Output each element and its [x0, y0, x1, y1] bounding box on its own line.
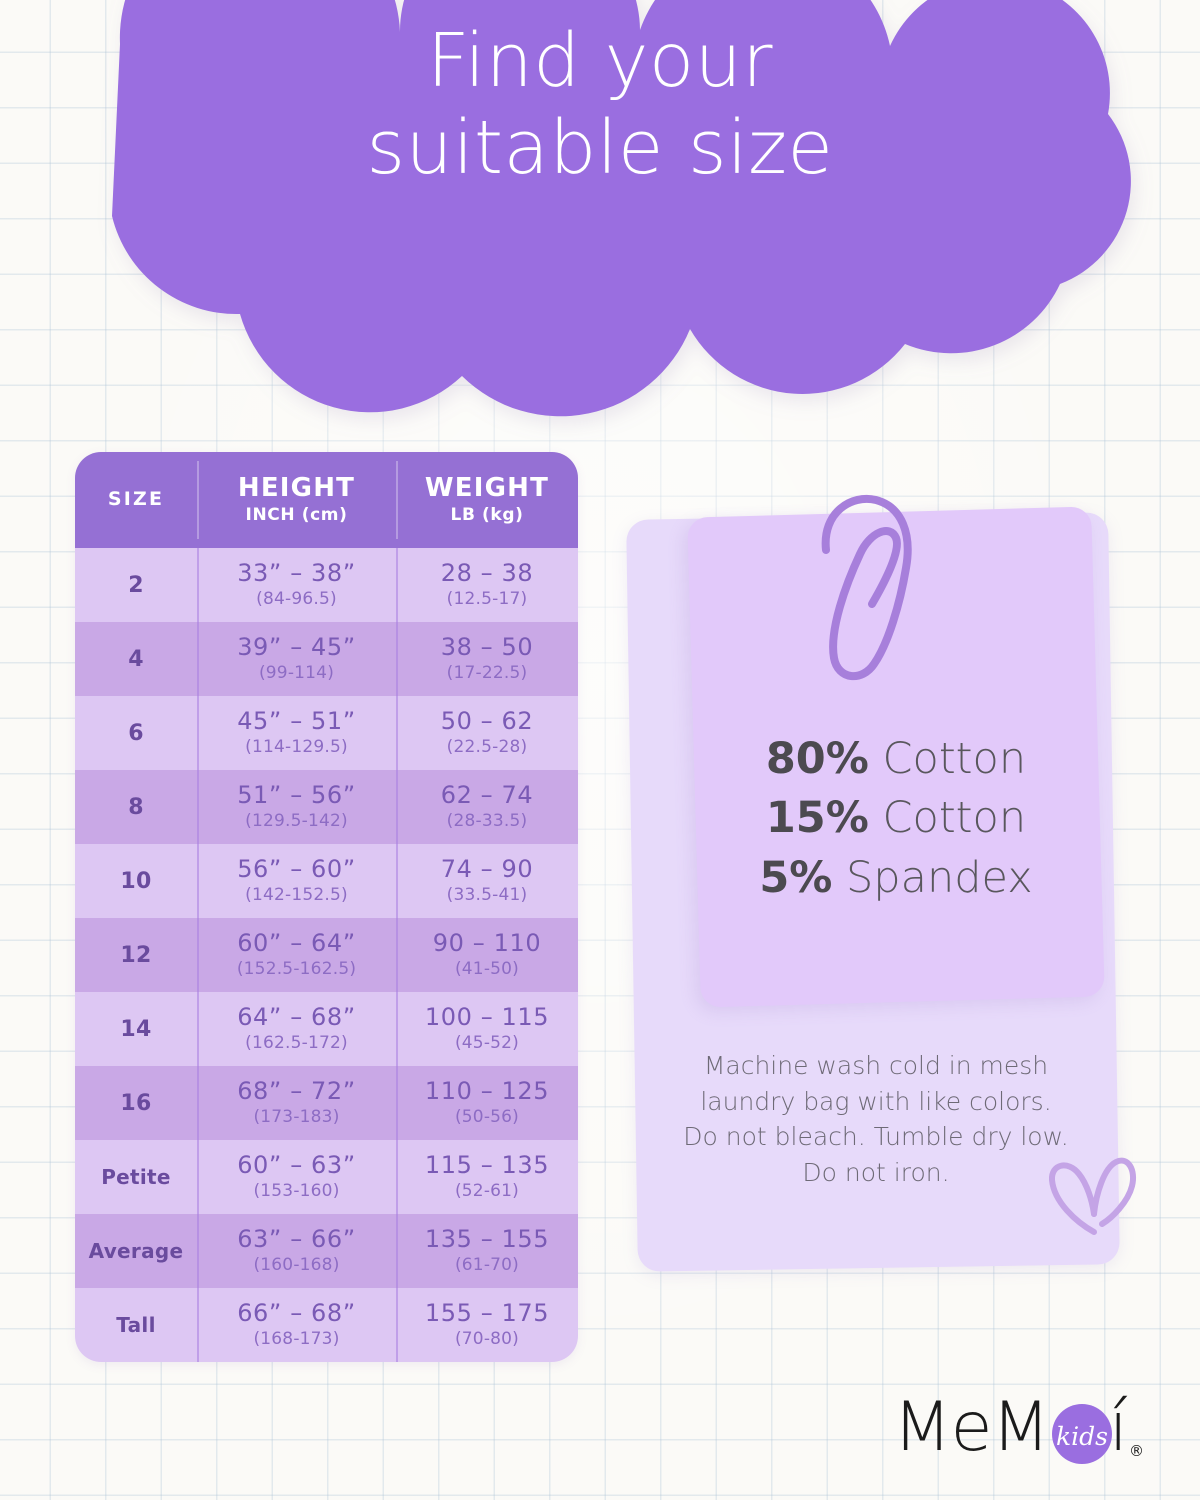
cell-height: 33” – 38” (84-96.5) [197, 548, 396, 622]
weight-lb: 38 – 50 [441, 635, 534, 660]
cell-size: 14 [75, 992, 197, 1066]
weight-kg: (28-33.5) [447, 811, 528, 831]
weight-kg: (41-50) [455, 959, 519, 979]
care-line: Machine wash cold in mesh [660, 1048, 1092, 1084]
height-inches: 68” – 72” [237, 1079, 356, 1104]
composition-line: 15% Cotton [700, 789, 1092, 848]
table-row: 14 64” – 68” (162.5-172) 100 – 115 (45-5… [75, 992, 578, 1066]
height-cm: (84-96.5) [256, 589, 337, 609]
cell-weight: 74 – 90 (33.5-41) [396, 844, 578, 918]
cell-weight: 100 – 115 (45-52) [396, 992, 578, 1066]
weight-kg: (33.5-41) [447, 885, 528, 905]
trademark-symbol: ® [1129, 1442, 1144, 1460]
cell-size: 4 [75, 622, 197, 696]
table-row: 4 39” – 45” (99-114) 38 – 50 (17-22.5) [75, 622, 578, 696]
cell-size: Average [75, 1214, 197, 1288]
composition-line: 5% Spandex [700, 849, 1092, 908]
size-value: 8 [128, 795, 144, 820]
column-header-height-units: INCH (cm) [197, 505, 396, 525]
cell-weight: 50 – 62 (22.5-28) [396, 696, 578, 770]
kids-badge-label: kids [1056, 1422, 1108, 1451]
cell-weight: 90 – 110 (41-50) [396, 918, 578, 992]
cloud-header: Find your suitable size [0, 0, 1200, 404]
cell-size: 2 [75, 548, 197, 622]
cell-weight: 110 – 125 (50-56) [396, 1066, 578, 1140]
table-row: Average 63” – 66” (160-168) 135 – 155 (6… [75, 1214, 578, 1288]
table-row: 12 60” – 64” (152.5-162.5) 90 – 110 (41-… [75, 918, 578, 992]
care-line: laundry bag with like colors. [660, 1084, 1092, 1120]
cell-size: Petite [75, 1140, 197, 1214]
weight-kg: (50-56) [455, 1107, 519, 1127]
cell-size: 12 [75, 918, 197, 992]
column-header-size-label: SIZE [75, 490, 197, 510]
height-cm: (142-152.5) [245, 885, 348, 905]
weight-lb: 155 – 175 [425, 1301, 549, 1326]
height-inches: 60” – 63” [237, 1153, 356, 1178]
title-line-2: suitable size [0, 105, 1200, 192]
height-inches: 39” – 45” [237, 635, 356, 660]
composition-material: Cotton [882, 793, 1026, 843]
composition-percent: 5% [759, 853, 832, 903]
table-row: 2 33” – 38” (84-96.5) 28 – 38 (12.5-17) [75, 548, 578, 622]
column-header-height: HEIGHT INCH (cm) [197, 475, 396, 524]
cell-weight: 62 – 74 (28-33.5) [396, 770, 578, 844]
table-row: Petite 60” – 63” (153-160) 115 – 135 (52… [75, 1140, 578, 1214]
composition-percent: 15% [766, 793, 869, 843]
fabric-composition: 80% Cotton 15% Cotton 5% Spandex [700, 730, 1092, 908]
weight-lb: 110 – 125 [425, 1079, 549, 1104]
table-row: Tall 66” – 68” (168-173) 155 – 175 (70-8… [75, 1288, 578, 1362]
weight-lb: 90 – 110 [433, 931, 541, 956]
cell-height: 51” – 56” (129.5-142) [197, 770, 396, 844]
cell-size: 6 [75, 696, 197, 770]
height-cm: (152.5-162.5) [237, 959, 356, 979]
weight-kg: (22.5-28) [447, 737, 528, 757]
composition-material: Spandex [846, 853, 1033, 903]
table-row: 16 68” – 72” (173-183) 110 – 125 (50-56) [75, 1066, 578, 1140]
height-cm: (173-183) [253, 1107, 339, 1127]
height-inches: 51” – 56” [237, 783, 356, 808]
height-cm: (129.5-142) [245, 811, 348, 831]
composition-line: 80% Cotton [700, 730, 1092, 789]
weight-lb: 100 – 115 [425, 1005, 549, 1030]
cell-height: 64” – 68” (162.5-172) [197, 992, 396, 1066]
weight-kg: (45-52) [455, 1033, 519, 1053]
cell-height: 63” – 66” (160-168) [197, 1214, 396, 1288]
weight-kg: (12.5-17) [447, 589, 528, 609]
column-header-weight-units: LB (kg) [396, 505, 578, 525]
size-chart-table: SIZE HEIGHT INCH (cm) WEIGHT LB (kg) 2 3… [75, 452, 578, 1362]
weight-lb: 74 – 90 [441, 857, 534, 882]
weight-lb: 28 – 38 [441, 561, 534, 586]
height-inches: 56” – 60” [237, 857, 356, 882]
composition-material: Cotton [882, 734, 1026, 784]
cell-height: 39” – 45” (99-114) [197, 622, 396, 696]
weight-lb: 50 – 62 [441, 709, 534, 734]
cell-size: 10 [75, 844, 197, 918]
cell-weight: 38 – 50 (17-22.5) [396, 622, 578, 696]
cell-weight: 28 – 38 (12.5-17) [396, 548, 578, 622]
paperclip-icon [812, 488, 932, 693]
height-cm: (168-173) [253, 1329, 339, 1349]
height-cm: (162.5-172) [245, 1033, 348, 1053]
care-line: Do not bleach. Tumble dry low. [660, 1119, 1092, 1155]
column-header-size: SIZE [75, 490, 197, 510]
weight-lb: 115 – 135 [425, 1153, 549, 1178]
cell-size: 8 [75, 770, 197, 844]
cell-height: 68” – 72” (173-183) [197, 1066, 396, 1140]
weight-kg: (52-61) [455, 1181, 519, 1201]
height-cm: (99-114) [259, 663, 334, 683]
column-header-weight-label: WEIGHT [396, 475, 578, 502]
heart-icon [1046, 1152, 1142, 1247]
weight-kg: (17-22.5) [447, 663, 528, 683]
height-inches: 45” – 51” [237, 709, 356, 734]
care-instructions: Machine wash cold in mesh laundry bag wi… [660, 1048, 1092, 1190]
weight-kg: (61-70) [455, 1255, 519, 1275]
cell-height: 56” – 60” (142-152.5) [197, 844, 396, 918]
height-inches: 64” – 68” [237, 1005, 356, 1030]
cell-size: Tall [75, 1288, 197, 1362]
cell-weight: 135 – 155 (61-70) [396, 1214, 578, 1288]
title-line-1: Find your [0, 18, 1200, 105]
height-inches: 63” – 66” [237, 1227, 356, 1252]
logo-accented-i: í [1109, 1388, 1128, 1467]
weight-lb: 62 – 74 [441, 783, 534, 808]
table-header-row: SIZE HEIGHT INCH (cm) WEIGHT LB (kg) [75, 452, 578, 548]
cell-height: 60” – 63” (153-160) [197, 1140, 396, 1214]
cell-weight: 155 – 175 (70-80) [396, 1288, 578, 1362]
size-value: Tall [116, 1313, 155, 1337]
cell-size: 16 [75, 1066, 197, 1140]
cell-height: 60” – 64” (152.5-162.5) [197, 918, 396, 992]
height-inches: 33” – 38” [237, 561, 356, 586]
column-header-weight: WEIGHT LB (kg) [396, 475, 578, 524]
table-row: 8 51” – 56” (129.5-142) 62 – 74 (28-33.5… [75, 770, 578, 844]
height-cm: (114-129.5) [245, 737, 348, 757]
size-value: 16 [120, 1091, 151, 1116]
height-inches: 60” – 64” [237, 931, 356, 956]
column-header-height-label: HEIGHT [197, 475, 396, 502]
size-value: 4 [128, 647, 144, 672]
size-value: 14 [120, 1017, 151, 1042]
brand-logo: MeMo kids í ® [893, 1388, 1153, 1484]
care-line: Do not iron. [660, 1155, 1092, 1191]
size-value: Petite [101, 1165, 171, 1189]
height-cm: (160-168) [253, 1255, 339, 1275]
height-inches: 66” – 68” [237, 1301, 356, 1326]
table-row: 10 56” – 60” (142-152.5) 74 – 90 (33.5-4… [75, 844, 578, 918]
weight-kg: (70-80) [455, 1329, 519, 1349]
size-value: Average [89, 1239, 184, 1263]
cell-height: 45” – 51” (114-129.5) [197, 696, 396, 770]
cell-weight: 115 – 135 (52-61) [396, 1140, 578, 1214]
weight-lb: 135 – 155 [425, 1227, 549, 1252]
size-value: 12 [120, 943, 151, 968]
size-value: 6 [128, 721, 144, 746]
table-row: 6 45” – 51” (114-129.5) 50 – 62 (22.5-28… [75, 696, 578, 770]
size-value: 2 [128, 573, 144, 598]
composition-percent: 80% [766, 734, 869, 784]
size-value: 10 [120, 869, 151, 894]
cell-height: 66” – 68” (168-173) [197, 1288, 396, 1362]
page-title: Find your suitable size [0, 18, 1200, 193]
height-cm: (153-160) [253, 1181, 339, 1201]
